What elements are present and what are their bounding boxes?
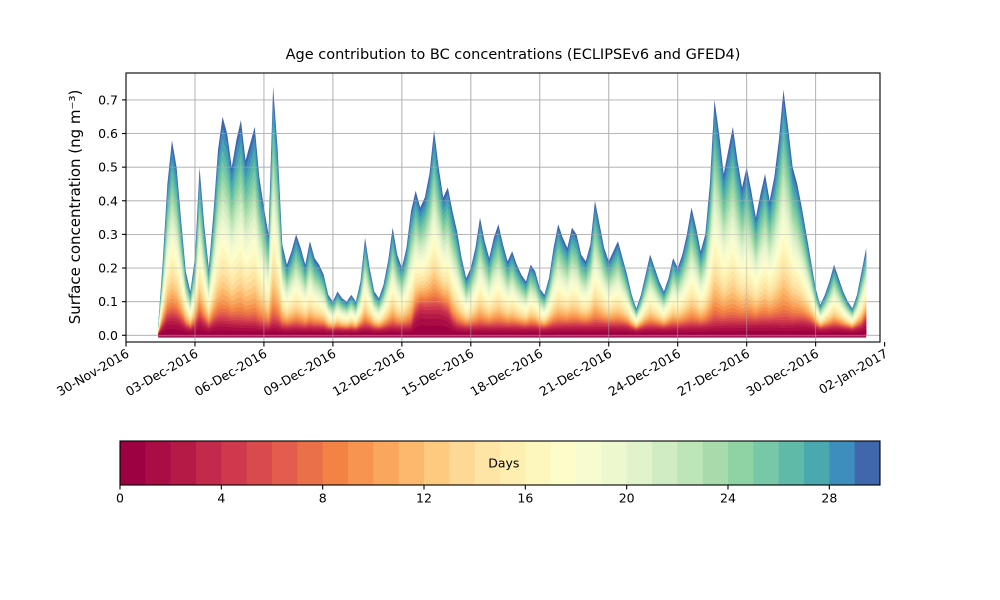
colorbar-band <box>120 441 146 485</box>
y-tick-label: 0.3 <box>98 227 118 242</box>
colorbar-band <box>753 441 779 485</box>
colorbar-band <box>703 441 729 485</box>
colorbar-band <box>677 441 703 485</box>
colorbar-band <box>728 441 754 485</box>
colorbar-tick-label: 20 <box>619 491 635 506</box>
colorbar-band <box>247 441 273 485</box>
y-tick-label: 0.5 <box>98 160 118 175</box>
y-tick-label: 0.1 <box>98 294 118 309</box>
colorbar-band <box>424 441 450 485</box>
y-tick-label: 0.7 <box>98 92 118 107</box>
colorbar-tick-label: 0 <box>116 491 124 506</box>
colorbar-band <box>627 441 653 485</box>
colorbar-band <box>297 441 323 485</box>
colorbar-band <box>171 441 197 485</box>
colorbar-band <box>551 441 577 485</box>
colorbar-tick-label: 12 <box>416 491 432 506</box>
colorbar-band <box>449 441 475 485</box>
colorbar-band <box>399 441 425 485</box>
colorbar-tick-label: 4 <box>217 491 225 506</box>
colorbar-band <box>525 441 551 485</box>
colorbar-tick-label: 24 <box>720 491 736 506</box>
y-tick-label: 0.6 <box>98 126 118 141</box>
colorbar-band <box>829 441 855 485</box>
colorbar-tick-label: 16 <box>517 491 533 506</box>
colorbar-band <box>652 441 678 485</box>
colorbar-band <box>221 441 247 485</box>
colorbar-band <box>601 441 627 485</box>
colorbar-band <box>272 441 298 485</box>
colorbar-band <box>576 441 602 485</box>
colorbar-band <box>804 441 830 485</box>
colorbar-tick-label: 28 <box>821 491 837 506</box>
colorbar-band <box>779 441 805 485</box>
colorbar-band <box>373 441 399 485</box>
figure-canvas: Age contribution to BC concentrations (E… <box>0 0 1000 600</box>
colorbar-tick-label: 8 <box>319 491 327 506</box>
y-tick-label: 0.4 <box>98 193 118 208</box>
page-title: Age contribution to BC concentrations (E… <box>286 47 741 63</box>
y-tick-label: 0.0 <box>98 328 118 343</box>
colorbar-band <box>855 441 881 485</box>
colorbar-band <box>348 441 374 485</box>
y-axis-label: Surface concentration (ng m⁻³) <box>66 90 84 325</box>
colorbar-band <box>145 441 171 485</box>
y-tick-label: 0.2 <box>98 261 118 276</box>
colorbar-band <box>196 441 222 485</box>
colorbar-label: Days <box>488 456 519 471</box>
colorbar-band <box>323 441 349 485</box>
